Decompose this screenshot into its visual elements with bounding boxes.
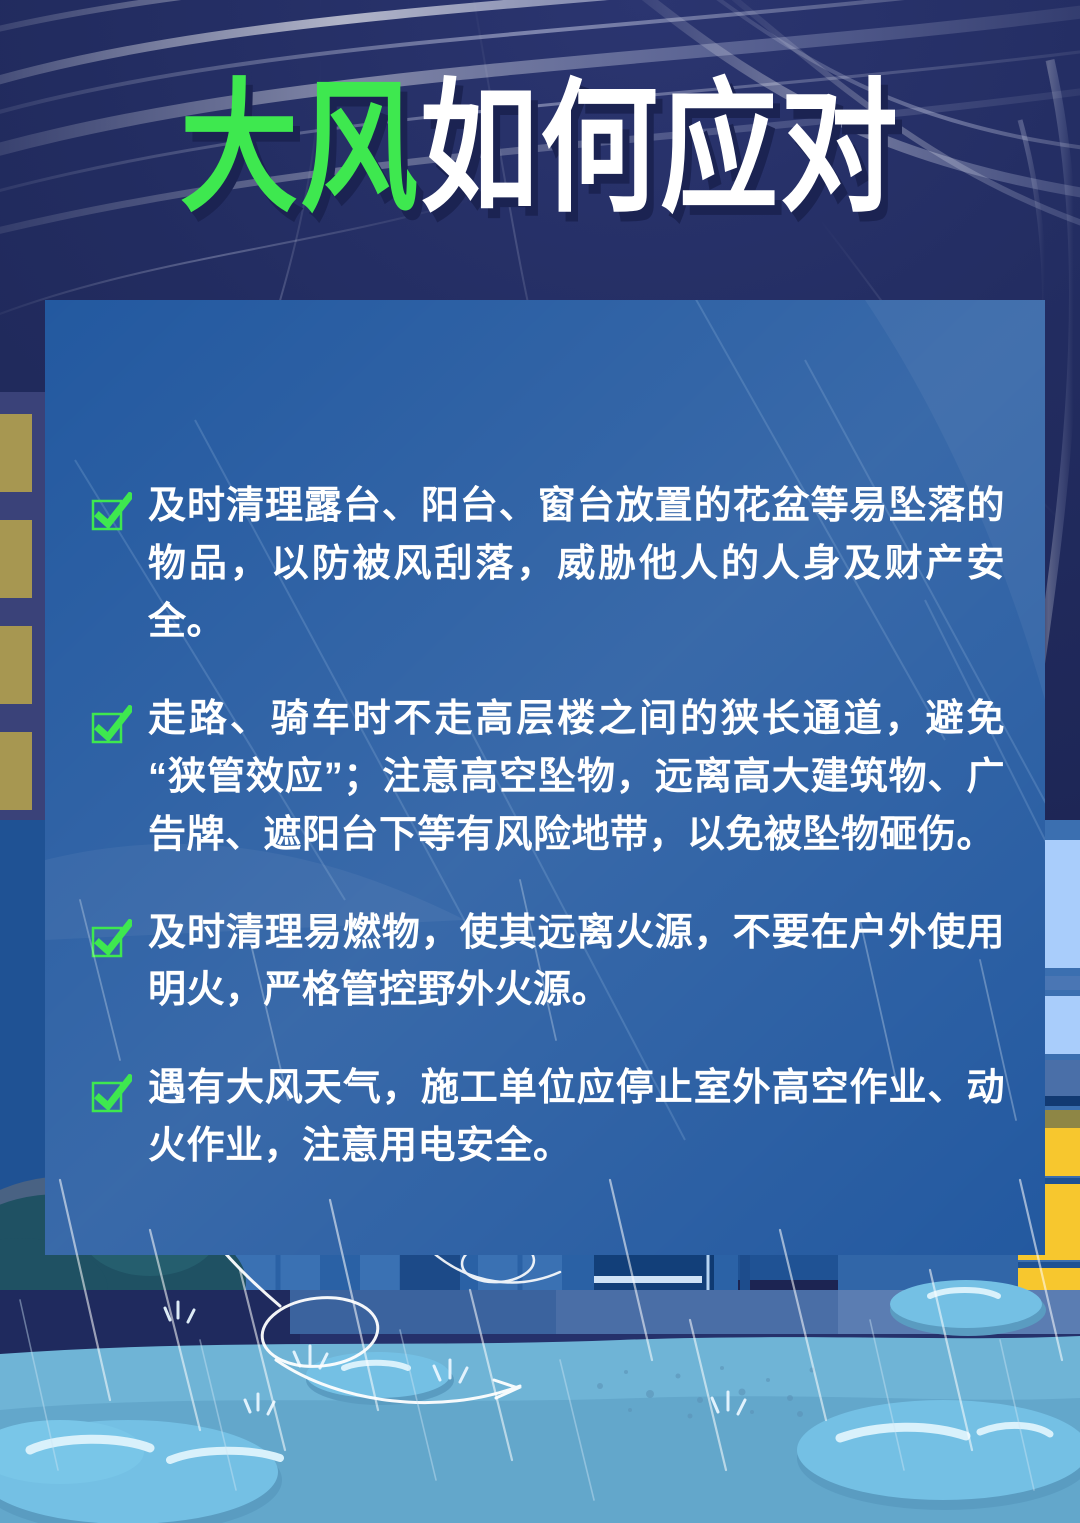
advice-text: 及时清理露台、阳台、窗台放置的花盆等易坠落的物品，以防被风刮落，威胁他人的人身及…	[148, 478, 1005, 651]
green-checkbox-icon	[90, 492, 132, 534]
list-item: 走路、骑车时不走高层楼之间的狭长通道，避免“狭管效应”；注意高空坠物，远离高大建…	[90, 691, 1005, 864]
film-dash	[0, 520, 32, 598]
film-dash	[0, 626, 32, 704]
green-checkbox-icon	[90, 919, 132, 961]
film-dash	[0, 732, 32, 810]
advice-text: 及时清理易燃物，使其远离火源，不要在户外使用明火，严格管控野外火源。	[148, 905, 1005, 1021]
advice-list: 及时清理露台、阳台、窗台放置的花盆等易坠落的物品，以防被风刮落，威胁他人的人身及…	[90, 478, 1005, 1176]
title-rest: 如何应对	[420, 58, 900, 241]
poster-canvas: 及时清理露台、阳台、窗台放置的花盆等易坠落的物品，以防被风刮落，威胁他人的人身及…	[0, 0, 1080, 1523]
page-title: 大风如何应对	[0, 76, 1080, 226]
advice-text: 走路、骑车时不走高层楼之间的狭长通道，避免“狭管效应”；注意高空坠物，远离高大建…	[148, 691, 1005, 864]
list-item: 及时清理易燃物，使其远离火源，不要在户外使用明火，严格管控野外火源。	[90, 905, 1005, 1021]
green-checkbox-icon	[90, 1074, 132, 1116]
film-dash	[0, 414, 32, 492]
list-item: 及时清理露台、阳台、窗台放置的花盆等易坠落的物品，以防被风刮落，威胁他人的人身及…	[90, 478, 1005, 651]
advice-text: 遇有大风天气，施工单位应停止室外高空作业、动火作业，注意用电安全。	[148, 1060, 1005, 1176]
green-checkbox-icon	[90, 705, 132, 747]
list-item: 遇有大风天气，施工单位应停止室外高空作业、动火作业，注意用电安全。	[90, 1060, 1005, 1176]
title-highlight: 大风	[180, 58, 420, 241]
advice-card: 及时清理露台、阳台、窗台放置的花盆等易坠落的物品，以防被风刮落，威胁他人的人身及…	[45, 300, 1045, 1255]
